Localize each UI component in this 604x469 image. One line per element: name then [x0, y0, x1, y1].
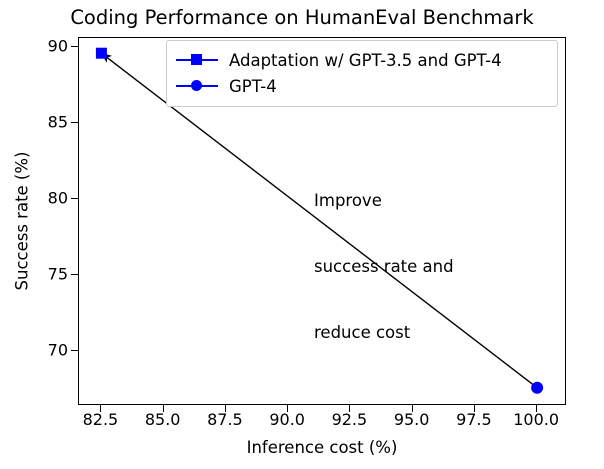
y-axis-label: Success rate (%) [13, 152, 32, 291]
legend-swatch-circle-icon [176, 76, 218, 96]
legend-swatch-square-icon [176, 50, 218, 70]
x-tick-label: 82.5 [83, 410, 119, 429]
y-tick-mark [71, 46, 78, 47]
x-tick-mark [163, 405, 164, 412]
data-point-circle[interactable] [531, 382, 543, 394]
annotation-line-1: Improve [314, 190, 454, 212]
y-tick-label: 70 [24, 341, 68, 360]
x-tick-mark [474, 405, 475, 412]
x-tick-mark [225, 405, 226, 412]
x-tick-label: 100.0 [513, 410, 559, 429]
x-tick-label: 85.0 [145, 410, 181, 429]
x-tick-label: 97.5 [456, 410, 492, 429]
x-axis-label: Inference cost (%) [78, 438, 566, 457]
legend-item-adaptation[interactable]: Adaptation w/ GPT-3.5 and GPT-4 [176, 47, 548, 73]
data-point-square[interactable] [96, 48, 107, 59]
x-tick-label: 87.5 [207, 410, 243, 429]
annotation-text: Improve success rate and reduce cost [314, 146, 454, 388]
x-tick-mark [287, 405, 288, 412]
y-tick-mark [71, 350, 78, 351]
y-tick-label: 85 [24, 113, 68, 132]
annotation-line-2: success rate and [314, 256, 454, 278]
legend-label-adaptation: Adaptation w/ GPT-3.5 and GPT-4 [229, 51, 502, 70]
legend-label-gpt4: GPT-4 [229, 77, 277, 96]
x-tick-mark [349, 405, 350, 412]
y-tick-mark [71, 274, 78, 275]
chart-legend[interactable]: Adaptation w/ GPT-3.5 and GPT-4 GPT-4 [166, 40, 558, 107]
legend-item-gpt4[interactable]: GPT-4 [176, 73, 548, 99]
annotation-line-3: reduce cost [314, 322, 454, 344]
x-tick-mark [100, 405, 101, 412]
x-tick-label: 90.0 [269, 410, 305, 429]
figure-canvas: Coding Performance on HumanEval Benchmar… [0, 0, 604, 469]
y-tick-mark [71, 198, 78, 199]
x-tick-label: 92.5 [332, 410, 368, 429]
x-tick-mark [536, 405, 537, 412]
x-tick-label: 95.0 [394, 410, 430, 429]
chart-title: Coding Performance on HumanEval Benchmar… [0, 6, 604, 30]
y-tick-mark [71, 122, 78, 123]
x-tick-mark [412, 405, 413, 412]
y-tick-label: 90 [24, 37, 68, 56]
